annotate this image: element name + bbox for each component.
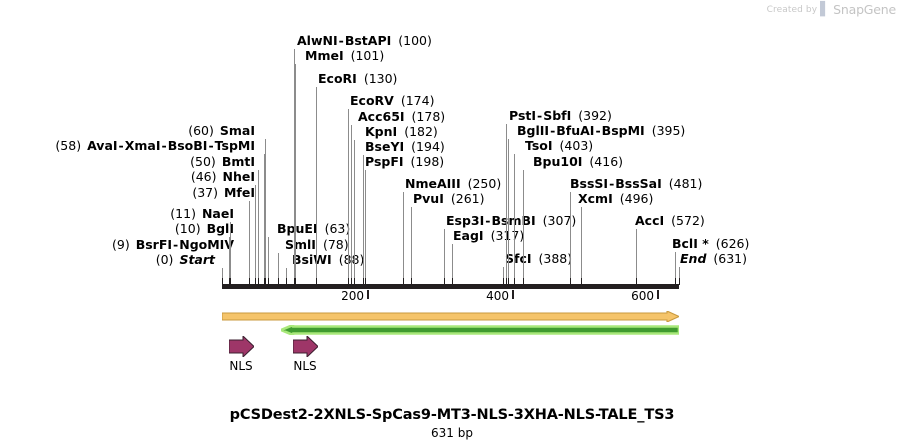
nls-1-label: NLS (216, 359, 266, 373)
enzyme-position: (307) (543, 213, 577, 228)
enzyme-label-end[interactable]: End(631) (680, 253, 747, 265)
enzyme-name: SbfI (543, 108, 571, 123)
enzyme-position: (63) (325, 221, 351, 236)
enzyme-name: TspMI (215, 138, 255, 153)
name-separator: - (161, 138, 168, 153)
leader-line-ecorv (348, 109, 349, 278)
enzyme-position: (194) (411, 139, 445, 154)
leader-line-esp3i-bsmbi (444, 229, 445, 278)
ruler-tick (367, 290, 369, 299)
enzyme-name: AccI (635, 213, 664, 228)
watermark-prefix: Created by (767, 5, 818, 15)
snapgene-logo-icon: ▌ (820, 3, 830, 16)
enzyme-name: EagI (453, 228, 484, 243)
enzyme-position: (198) (411, 154, 445, 169)
enzyme-name: BsoBI (168, 138, 208, 153)
enzyme-label-smai[interactable]: (60)SmaI (0, 125, 255, 137)
enzyme-label-ecori[interactable]: EcoRI(130) (318, 73, 397, 85)
enzyme-name: PvuI (413, 191, 444, 206)
ruler-label: 600 (631, 289, 657, 303)
leader-line-naei (230, 222, 231, 278)
enzyme-position: (182) (404, 124, 438, 139)
enzyme-name: PspFI (365, 154, 404, 169)
ruler-tick (657, 290, 659, 299)
enzyme-position: (392) (578, 108, 612, 123)
enzyme-label-mmei[interactable]: MmeI(101) (305, 50, 384, 62)
enzyme-label-naei[interactable]: (11)NaeI (0, 208, 234, 220)
enzyme-name: End (680, 251, 706, 266)
site-tick (679, 278, 680, 285)
enzyme-position: (0) (156, 252, 174, 267)
enzyme-label-avai-xmai-bsobi-tspmi[interactable]: (58)AvaI-XmaI-BsoBI-TspMI (0, 140, 255, 152)
enzyme-position: (178) (412, 109, 446, 124)
enzyme-name: Esp3I (446, 213, 484, 228)
enzyme-name: AvaI (87, 138, 117, 153)
enzyme-name: SmaI (220, 123, 255, 138)
nls-1[interactable] (229, 336, 254, 357)
snapgene-watermark: Created by ▌ SnapGene (767, 2, 896, 17)
feature-arrow-forward[interactable] (222, 307, 679, 318)
leader-line-mmei (295, 64, 296, 278)
enzyme-name: MfeI (224, 185, 255, 200)
enzyme-name: BclI * (672, 236, 709, 251)
enzyme-name: Bpu10I (533, 154, 582, 169)
leader-line-start (222, 268, 223, 278)
enzyme-name: EcoRI (318, 71, 357, 86)
enzyme-position: (78) (323, 237, 349, 252)
leader-line-bsrfi-ngomiv (229, 253, 230, 278)
leader-line-bsiwi (286, 268, 287, 278)
leader-line-xcmi (581, 207, 582, 278)
enzyme-label-bsrfi-ngomiv[interactable]: (9)BsrFI-NgoMIV (0, 239, 234, 251)
enzyme-label-alwni-bstapi[interactable]: AlwNI-BstAPI(100) (297, 35, 432, 47)
enzyme-position: (101) (351, 48, 385, 63)
leader-line-bsssi-bsssai (570, 192, 571, 278)
enzyme-name: BstAPI (345, 33, 391, 48)
name-separator: - (118, 138, 125, 153)
enzyme-name: NgoMIV (179, 237, 234, 252)
leader-line-acc65i (351, 125, 352, 278)
enzyme-position: (100) (398, 33, 432, 48)
enzyme-position: (496) (620, 191, 654, 206)
enzyme-name: BseYI (365, 139, 404, 154)
leader-line-sfci (503, 267, 504, 278)
enzyme-name: BspMI (602, 123, 645, 138)
leader-line-pspfi (365, 170, 366, 278)
enzyme-name: BglII (517, 123, 549, 138)
enzyme-label-nmeaiii[interactable]: NmeAIII(250) (405, 178, 501, 190)
reverse-arrow-icon (281, 325, 679, 335)
enzyme-label-start[interactable]: (0)Start (0, 254, 215, 266)
enzyme-label-bpuei[interactable]: BpuEI(63) (277, 223, 350, 235)
enzyme-position: (9) (112, 237, 130, 252)
enzyme-label-ecorv[interactable]: EcoRV(174) (350, 95, 434, 107)
enzyme-name: BssSI (570, 176, 608, 191)
enzyme-name: BpuEI (277, 221, 318, 236)
leader-line-avai-xmai-bsobi-tspmi (264, 154, 265, 278)
enzyme-label-bmti[interactable]: (50)BmtI (0, 156, 255, 168)
enzyme-name: KpnI (365, 124, 397, 139)
enzyme-name: SmlI (285, 237, 316, 252)
nls-2-label: NLS (280, 359, 330, 373)
enzyme-position: (481) (669, 176, 703, 191)
enzyme-name: XmaI (125, 138, 161, 153)
enzyme-name: BsrFI (136, 237, 172, 252)
enzyme-name: BsiWI (292, 252, 332, 267)
leader-line-smai (265, 139, 266, 278)
enzyme-label-sfci[interactable]: SfcI(388) (505, 253, 572, 265)
leader-line-bpuei (268, 237, 269, 278)
sequence-backbone (222, 284, 679, 289)
ruler-tick (512, 290, 514, 299)
leader-line-bglii-bfuai-bspmi (508, 139, 509, 278)
enzyme-label-mfei[interactable]: (37)MfeI (0, 187, 255, 199)
sequence-length: 631 bp (0, 426, 904, 440)
enzyme-position: (58) (55, 138, 81, 153)
enzyme-label-pspfi[interactable]: PspFI(198) (365, 156, 444, 168)
enzyme-label-esp3i-bsmbi[interactable]: Esp3I-BsmBI(307) (446, 215, 576, 227)
snapgene-linear-map: Created by ▌ SnapGene AlwNI-BstAPI(100)M… (0, 0, 904, 447)
leader-line-mfei (249, 201, 250, 278)
enzyme-label-kpni[interactable]: KpnI(182) (365, 126, 438, 138)
leader-line-acci (636, 229, 637, 278)
enzyme-position: (261) (451, 191, 485, 206)
enzyme-name: XcmI (578, 191, 613, 206)
enzyme-position: (50) (190, 154, 216, 169)
enzyme-position: (572) (671, 213, 705, 228)
enzyme-label-bgli[interactable]: (10)BglI (0, 223, 234, 235)
enzyme-position: (416) (589, 154, 623, 169)
enzyme-name: TsoI (525, 138, 553, 153)
enzyme-name: BssSaI (615, 176, 662, 191)
enzyme-position: (388) (539, 251, 573, 266)
enzyme-position: (403) (560, 138, 594, 153)
leader-line-bpu10i (523, 170, 524, 278)
enzyme-name: Acc65I (358, 109, 405, 124)
leader-line-psti-sbfi (506, 124, 507, 278)
leader-line-bcli (675, 252, 676, 278)
enzyme-position: (11) (170, 206, 196, 221)
leader-line-bseyi (363, 155, 364, 278)
enzyme-label-bcli[interactable]: BclI *(626) (672, 238, 749, 250)
name-separator: - (207, 138, 214, 153)
enzyme-position: (10) (175, 221, 201, 236)
enzyme-name: NheI (223, 169, 256, 184)
enzyme-label-bsssi-bsssai[interactable]: BssSI-BssSaI(481) (570, 178, 702, 190)
enzyme-position: (631) (713, 251, 747, 266)
enzyme-name: NaeI (202, 206, 234, 221)
nls-arrow-icon (293, 336, 318, 357)
enzyme-position: (37) (192, 185, 218, 200)
enzyme-label-bpu10i[interactable]: Bpu10I(416) (533, 156, 623, 168)
enzyme-label-bseyi[interactable]: BseYI(194) (365, 141, 445, 153)
enzyme-label-acc65i[interactable]: Acc65I(178) (358, 111, 445, 123)
enzyme-label-nhei[interactable]: (46)NheI (0, 171, 255, 183)
leader-line-smli (278, 253, 279, 278)
enzyme-name: NmeAIII (405, 176, 461, 191)
enzyme-position: (174) (401, 93, 435, 108)
leader-line-end (679, 267, 680, 278)
enzyme-position: (60) (188, 123, 214, 138)
enzyme-position: (46) (191, 169, 217, 184)
enzyme-name: Start (179, 252, 215, 267)
page-title: pCSDest2-2XNLS-SpCas9-MT3-NLS-3XHA-NLS-T… (0, 407, 904, 423)
enzyme-position: (250) (468, 176, 502, 191)
leader-line-pvui (411, 207, 412, 278)
enzyme-label-tsoi[interactable]: TsoI(403) (525, 140, 593, 152)
ruler-label: 200 (341, 289, 367, 303)
nls-2[interactable] (293, 336, 318, 357)
enzyme-name: BmtI (222, 154, 255, 169)
enzyme-label-psti-sbfi[interactable]: PstI-SbfI(392) (509, 110, 612, 122)
enzyme-name: PstI (509, 108, 536, 123)
watermark-brand: SnapGene (833, 2, 896, 17)
nls-arrow-icon (229, 336, 254, 357)
enzyme-position: (395) (652, 123, 686, 138)
leader-line-bmti (258, 170, 259, 278)
enzyme-position: (130) (364, 71, 398, 86)
name-separator: - (338, 33, 345, 48)
leader-line-nmeaiii (403, 192, 404, 278)
leader-line-kpni (354, 140, 355, 278)
feature-arrow-reverse[interactable] (281, 320, 679, 330)
enzyme-label-xcmi[interactable]: XcmI(496) (578, 193, 653, 205)
enzyme-name: EcoRV (350, 93, 394, 108)
enzyme-label-bglii-bfuai-bspmi[interactable]: BglII-BfuAI-BspMI(395) (517, 125, 685, 137)
enzyme-name: MmeI (305, 48, 344, 63)
leader-line-tsoi (514, 154, 515, 278)
enzyme-label-acci[interactable]: AccI(572) (635, 215, 705, 227)
enzyme-name: AlwNI (297, 33, 338, 48)
enzyme-name: BfuAI (556, 123, 594, 138)
leader-line-ecori (316, 87, 317, 278)
enzyme-label-pvui[interactable]: PvuI(261) (413, 193, 484, 205)
enzyme-position: (626) (716, 236, 750, 251)
leader-line-eagi (452, 244, 453, 278)
leader-line-nhei (255, 185, 256, 278)
name-separator: - (594, 123, 601, 138)
ruler-label: 400 (486, 289, 512, 303)
